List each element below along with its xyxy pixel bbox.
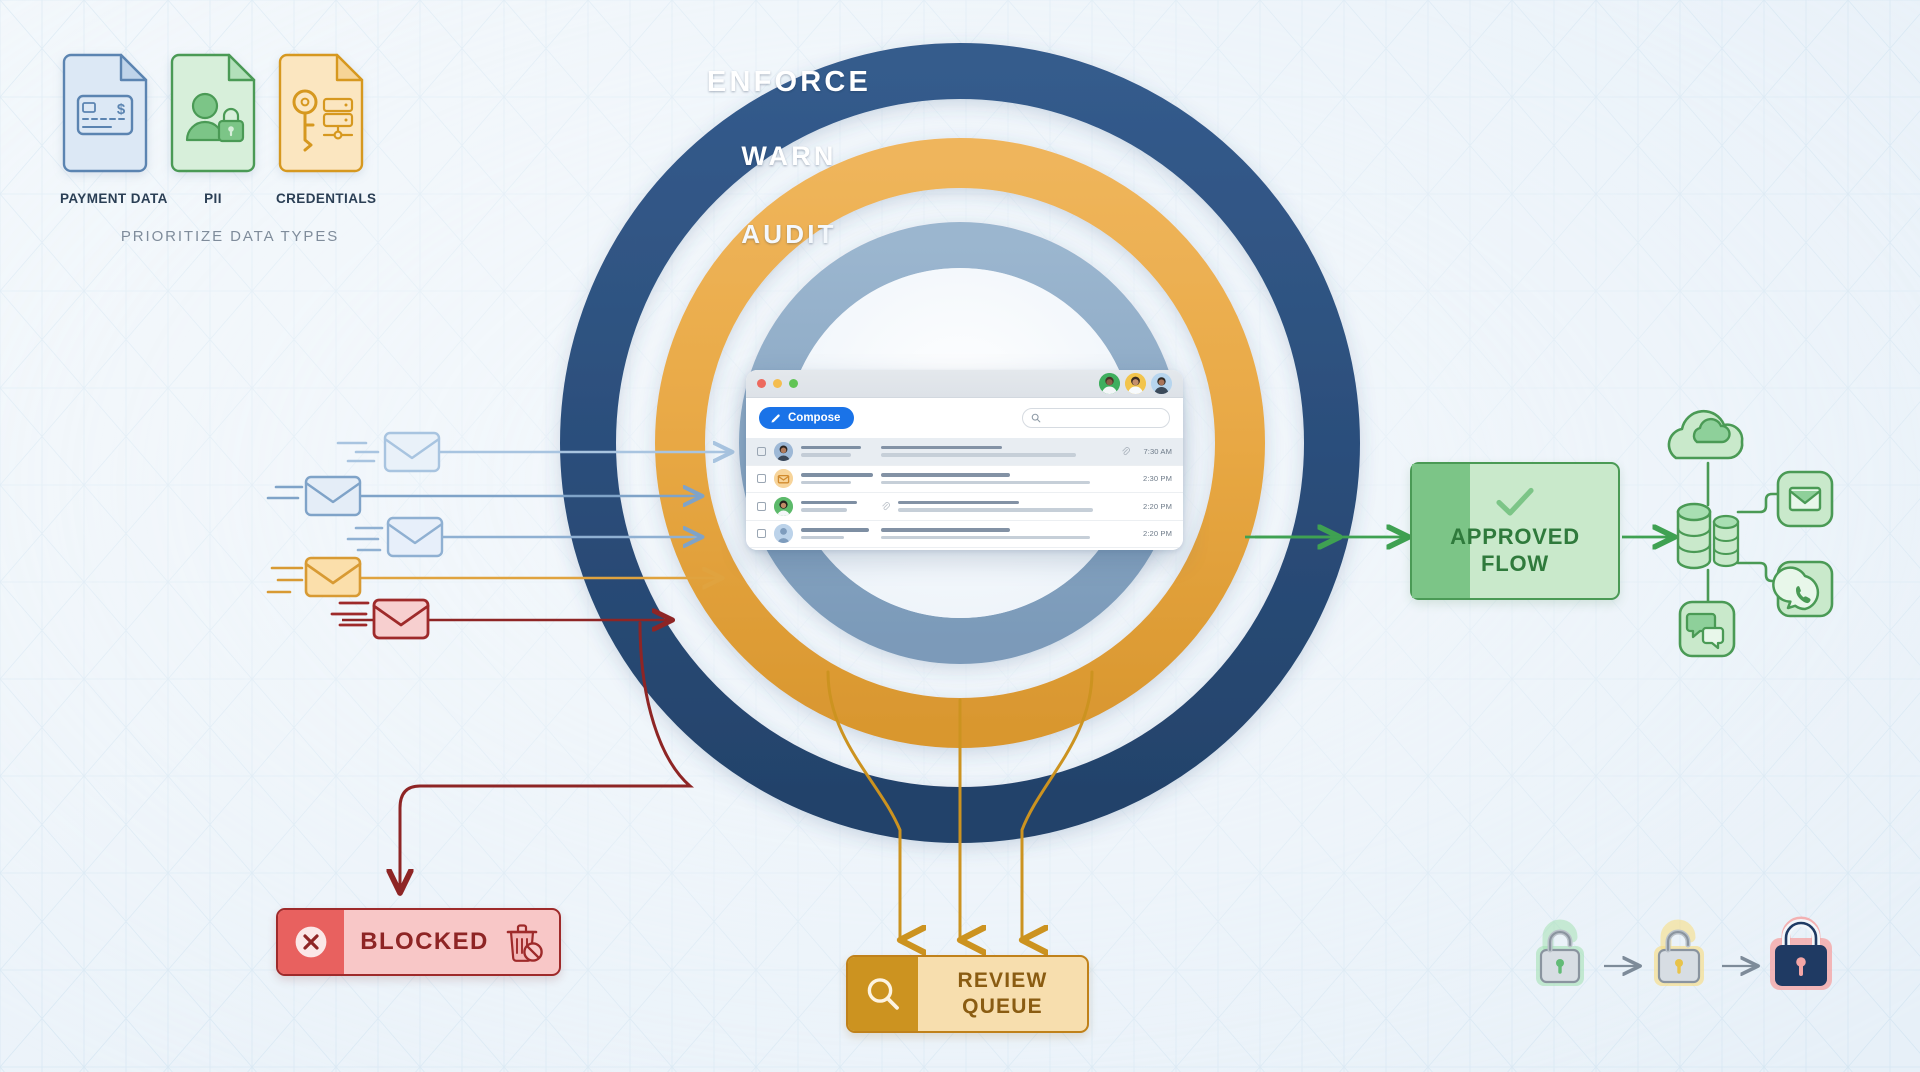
email-icon[interactable] [1778,472,1832,526]
blocked-outcome-badge[interactable]: BLOCKED [276,908,561,976]
avatar [774,469,793,488]
avatar[interactable] [1099,373,1120,394]
x-circle-icon [294,925,328,959]
lock-progression-group [1530,908,1850,1000]
compose-button[interactable]: Compose [759,407,854,429]
blocked-icon-cell [278,910,344,974]
close-button[interactable] [757,379,766,388]
table-row[interactable]: 7:30 AM [746,438,1183,466]
ring-label-warn: WARN [489,141,1089,172]
cloud-storage-icon[interactable] [1669,411,1742,458]
table-row[interactable]: 2:20 PM [746,521,1183,549]
approved-flow-line2: FLOW [1450,550,1580,578]
sender-placeholder [801,501,873,512]
row-checkbox[interactable] [757,529,766,538]
avatar [774,524,793,543]
collaborator-avatars [1099,373,1172,394]
review-queue-label: REVIEW QUEUE [918,957,1087,1031]
connector-db-email [1738,494,1780,512]
timestamp: 7:30 AM [1138,447,1172,456]
avatar [774,497,793,516]
blocked-label-row: BLOCKED [344,910,559,974]
table-row[interactable]: 2:30 PM [746,466,1183,494]
approved-flow-label: APPROVED FLOW [1450,523,1580,578]
attachment-icon [881,502,890,511]
subject-placeholder [881,473,1130,484]
minimize-button[interactable] [773,379,782,388]
subject-placeholder [881,528,1130,539]
inbound-message-5 [332,600,428,638]
blocked-label: BLOCKED [360,928,488,956]
email-client-window[interactable]: Compose [746,370,1183,550]
review-icon-cell [848,957,918,1031]
row-checkbox[interactable] [757,447,766,456]
checkmark-icon [1494,485,1536,519]
compose-label: Compose [788,412,840,424]
inbound-message-2 [268,477,360,515]
sender-placeholder [801,528,873,539]
mail-toolbar: Compose [746,398,1183,438]
subject-placeholder [898,501,1130,512]
timestamp: 2:20 PM [1138,502,1172,511]
avatar [774,442,793,461]
window-titlebar [746,370,1183,398]
unlock-icon[interactable] [1536,925,1584,986]
approved-flow-line1: APPROVED [1450,523,1580,551]
database-icon[interactable] [1678,504,1738,568]
attachment-icon [1121,447,1130,456]
magnifier-icon [864,975,902,1013]
ring-label-audit: AUDIT [489,219,1089,250]
review-queue-line1: REVIEW [957,968,1047,994]
approved-flow-badge[interactable]: APPROVED FLOW [1410,462,1620,600]
chat-messages-icon[interactable] [1680,602,1734,656]
pencil-icon [770,413,781,424]
timestamp: 2:20 PM [1138,529,1172,538]
review-queue-line2: QUEUE [962,994,1043,1020]
search-icon [1031,413,1041,423]
row-checkbox[interactable] [757,474,766,483]
inbound-message-3 [348,518,442,556]
avatar[interactable] [1151,373,1172,394]
timestamp: 2:30 PM [1138,474,1172,483]
search-input[interactable] [1022,408,1170,428]
maximize-button[interactable] [789,379,798,388]
avatar[interactable] [1125,373,1146,394]
inbound-message-1 [338,433,439,471]
email-list[interactable]: 7:30 AM [746,438,1183,550]
sender-placeholder [801,473,873,484]
row-checkbox[interactable] [757,502,766,511]
whatsapp-icon[interactable] [1773,562,1832,616]
lock-closed-icon[interactable] [1770,921,1832,990]
table-row[interactable]: 2:20 PM [746,493,1183,521]
unlock-warn-icon[interactable] [1654,925,1704,986]
trash-blocked-icon [503,921,543,963]
inbound-message-4 [268,558,360,596]
subject-placeholder [881,446,1113,457]
ring-label-enforce: ENFORCE [489,66,1089,99]
review-queue-badge[interactable]: REVIEW QUEUE [846,955,1089,1033]
sender-placeholder [801,446,873,457]
destinations-group [1660,400,1910,660]
table-row[interactable]: 2:20 PM [746,548,1183,550]
